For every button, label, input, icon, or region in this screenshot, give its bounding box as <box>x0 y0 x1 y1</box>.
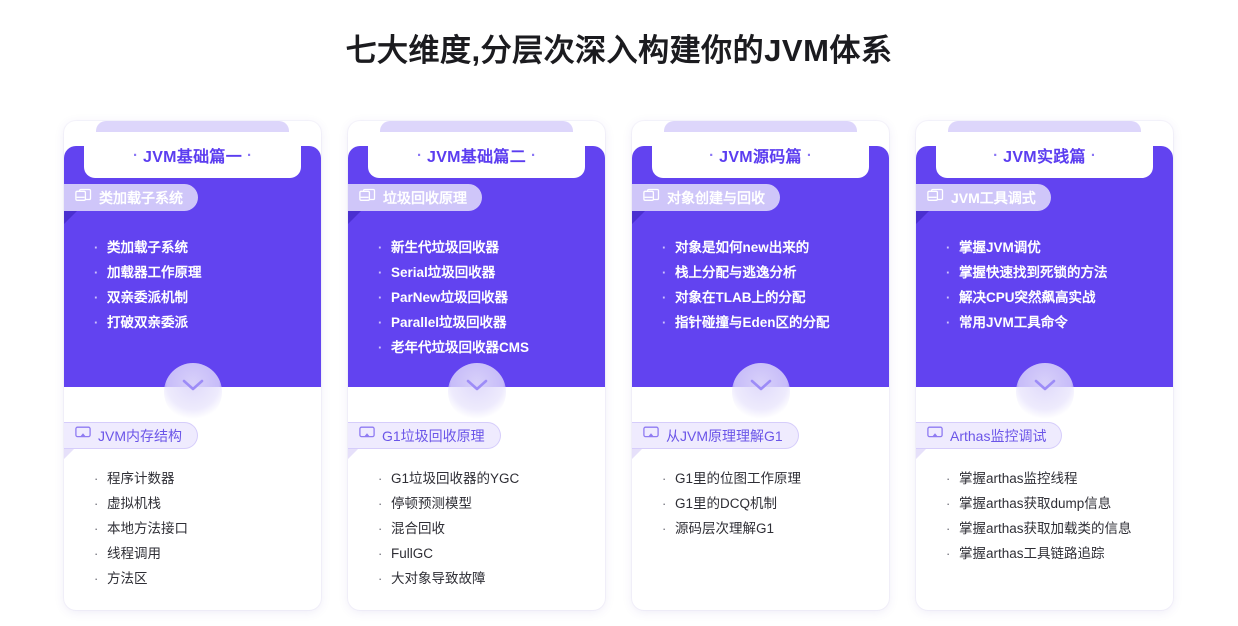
chevron-down-icon[interactable] <box>1034 378 1056 396</box>
lower-badge-fold <box>632 449 642 459</box>
bullet-icon: · <box>94 310 107 335</box>
list-item: ·栈上分配与逃逸分析 <box>662 260 887 285</box>
list-item: ·加载器工作原理 <box>94 260 319 285</box>
monitor-icon <box>75 426 91 445</box>
header-left-dot: · <box>128 147 143 164</box>
list-item: ·G1里的位图工作原理 <box>662 466 887 491</box>
monitor-icon <box>359 426 375 445</box>
list-item-label: 混合回收 <box>391 516 445 541</box>
curriculum-card[interactable]: · JVM源码篇 · 对象创建与回收 ·对象是如何new出来的 ·栈上分配与逃逸… <box>632 121 889 610</box>
monitor-icon <box>643 426 659 445</box>
monitor-icon <box>927 426 943 445</box>
lower-badge-fold <box>348 449 358 459</box>
upper-badge-fold <box>632 211 645 224</box>
lower-item-list: ·G1垃圾回收器的YGC ·停顿预测模型 ·混合回收 ·FullGC ·大对象导… <box>378 466 603 591</box>
bullet-icon: · <box>378 260 391 285</box>
list-item-label: 掌握arthas获取dump信息 <box>959 491 1111 516</box>
card-header-label: JVM基础篇一 <box>143 143 242 167</box>
list-item-label: 停顿预测模型 <box>391 491 472 516</box>
list-item-label: G1里的位图工作原理 <box>675 466 801 491</box>
bullet-icon: · <box>946 541 959 566</box>
curriculum-card[interactable]: · JVM基础篇一 · 类加载子系统 ·类加载子系统 ·加载器工作原理 <box>64 121 321 610</box>
list-item-label: 本地方法接口 <box>107 516 188 541</box>
list-item: ·指针碰撞与Eden区的分配 <box>662 310 887 335</box>
list-item: ·类加载子系统 <box>94 235 319 260</box>
list-item: ·ParNew垃圾回收器 <box>378 285 603 310</box>
bullet-icon: · <box>94 541 107 566</box>
list-item-label: 源码层次理解G1 <box>675 516 774 541</box>
lower-badge-fold <box>916 449 926 459</box>
list-item: ·打破双亲委派 <box>94 310 319 335</box>
list-item-label: Parallel垃圾回收器 <box>391 310 507 335</box>
bullet-icon: · <box>94 516 107 541</box>
bullet-icon: · <box>378 285 391 310</box>
list-item-label: 程序计数器 <box>107 466 175 491</box>
list-item: ·停顿预测模型 <box>378 491 603 516</box>
list-item: ·常用JVM工具命令 <box>946 310 1171 335</box>
bullet-icon: · <box>946 310 959 335</box>
card-grid: · JVM基础篇一 · 类加载子系统 ·类加载子系统 ·加载器工作原理 <box>64 121 1176 610</box>
upper-section-badge: 垃圾回收原理 <box>348 184 482 211</box>
list-item: ·FullGC <box>378 541 603 566</box>
chevron-down-icon[interactable] <box>182 378 204 396</box>
list-item-label: 栈上分配与逃逸分析 <box>675 260 797 285</box>
upper-item-list: ·掌握JVM调优 ·掌握快速找到死锁的方法 ·解决CPU突然飙高实战 ·常用JV… <box>946 235 1171 335</box>
list-item: ·Parallel垃圾回收器 <box>378 310 603 335</box>
header-left-dot: · <box>704 147 719 164</box>
list-item: ·G1里的DCQ机制 <box>662 491 887 516</box>
upper-section-badge: 对象创建与回收 <box>632 184 780 211</box>
upper-badge-label: JVM工具调式 <box>951 188 1036 208</box>
stacked-window-icon <box>927 188 944 208</box>
list-item: ·程序计数器 <box>94 466 319 491</box>
lower-item-list: ·程序计数器 ·虚拟机栈 ·本地方法接口 ·线程调用 ·方法区 <box>94 466 319 591</box>
bullet-icon: · <box>94 566 107 591</box>
bullet-icon: · <box>662 516 675 541</box>
list-item: ·老年代垃圾回收器CMS <box>378 335 603 360</box>
bullet-icon: · <box>378 516 391 541</box>
lower-section-badge: 从JVM原理理解G1 <box>632 422 799 449</box>
bullet-icon: · <box>662 260 675 285</box>
upper-badge-label: 对象创建与回收 <box>667 188 765 208</box>
header-right-dot: · <box>1086 147 1101 164</box>
lower-badge-fold <box>64 449 74 459</box>
bullet-icon: · <box>946 491 959 516</box>
list-item: ·线程调用 <box>94 541 319 566</box>
card-header-label: JVM实践篇 <box>1003 143 1086 167</box>
stacked-window-icon <box>643 188 660 208</box>
lower-section-badge: G1垃圾回收原理 <box>348 422 501 449</box>
bullet-icon: · <box>662 285 675 310</box>
upper-item-list: ·新生代垃圾回收器 ·Serial垃圾回收器 ·ParNew垃圾回收器 ·Par… <box>378 235 603 360</box>
header-right-dot: · <box>526 147 541 164</box>
bullet-icon: · <box>94 285 107 310</box>
upper-badge-label: 类加载子系统 <box>99 188 183 208</box>
lower-badge-label: G1垃圾回收原理 <box>382 426 485 446</box>
list-item-label: FullGC <box>391 541 433 566</box>
list-item: ·双亲委派机制 <box>94 285 319 310</box>
bullet-icon: · <box>378 310 391 335</box>
header-right-dot: · <box>242 147 257 164</box>
list-item: ·掌握arthas工具链路追踪 <box>946 541 1171 566</box>
page-title: 七大维度,分层次深入构建你的JVM体系 <box>0 30 1238 72</box>
stacked-window-icon <box>359 188 376 208</box>
card-header: · JVM基础篇二 · <box>368 132 585 178</box>
list-item: ·掌握arthas监控线程 <box>946 466 1171 491</box>
lower-badge-label: JVM内存结构 <box>98 426 182 446</box>
list-item-label: 双亲委派机制 <box>107 285 188 310</box>
bullet-icon: · <box>662 466 675 491</box>
card-header: · JVM实践篇 · <box>936 132 1153 178</box>
lower-badge-label: Arthas监控调试 <box>950 426 1046 446</box>
lower-section-badge: Arthas监控调试 <box>916 422 1062 449</box>
bullet-icon: · <box>378 235 391 260</box>
list-item: ·源码层次理解G1 <box>662 516 887 541</box>
bullet-icon: · <box>94 491 107 516</box>
upper-badge-fold <box>64 211 77 224</box>
lower-item-list: ·G1里的位图工作原理 ·G1里的DCQ机制 ·源码层次理解G1 <box>662 466 887 541</box>
header-right-dot: · <box>802 147 817 164</box>
list-item: ·对象是如何new出来的 <box>662 235 887 260</box>
chevron-down-icon[interactable] <box>466 378 488 396</box>
bullet-icon: · <box>946 285 959 310</box>
list-item: ·对象在TLAB上的分配 <box>662 285 887 310</box>
list-item-label: 掌握arthas获取加载类的信息 <box>959 516 1132 541</box>
list-item-label: 解决CPU突然飙高实战 <box>959 285 1096 310</box>
list-item-label: 对象在TLAB上的分配 <box>675 285 806 310</box>
list-item-label: 打破双亲委派 <box>107 310 188 335</box>
list-item-label: 大对象导致故障 <box>391 566 486 591</box>
list-item: ·G1垃圾回收器的YGC <box>378 466 603 491</box>
list-item-label: 常用JVM工具命令 <box>959 310 1068 335</box>
list-item-label: 老年代垃圾回收器CMS <box>391 335 529 360</box>
bullet-icon: · <box>662 310 675 335</box>
list-item-label: Serial垃圾回收器 <box>391 260 495 285</box>
lower-section-badge: JVM内存结构 <box>64 422 198 449</box>
list-item: ·虚拟机栈 <box>94 491 319 516</box>
upper-badge-fold <box>916 211 929 224</box>
list-item-label: 新生代垃圾回收器 <box>391 235 499 260</box>
lower-item-list: ·掌握arthas监控线程 ·掌握arthas获取dump信息 ·掌握artha… <box>946 466 1171 566</box>
list-item-label: 线程调用 <box>107 541 161 566</box>
list-item-label: 虚拟机栈 <box>107 491 161 516</box>
bullet-icon: · <box>946 235 959 260</box>
header-left-dot: · <box>988 147 1003 164</box>
list-item: ·新生代垃圾回收器 <box>378 235 603 260</box>
card-header: · JVM基础篇一 · <box>84 132 301 178</box>
list-item: ·掌握JVM调优 <box>946 235 1171 260</box>
upper-item-list: ·对象是如何new出来的 ·栈上分配与逃逸分析 ·对象在TLAB上的分配 ·指针… <box>662 235 887 335</box>
list-item-label: 掌握快速找到死锁的方法 <box>959 260 1108 285</box>
list-item: ·Serial垃圾回收器 <box>378 260 603 285</box>
bullet-icon: · <box>378 335 391 360</box>
upper-item-list: ·类加载子系统 ·加载器工作原理 ·双亲委派机制 ·打破双亲委派 <box>94 235 319 335</box>
bullet-icon: · <box>378 466 391 491</box>
stacked-window-icon <box>75 188 92 208</box>
header-left-dot: · <box>412 147 427 164</box>
bullet-icon: · <box>946 516 959 541</box>
list-item-label: 掌握arthas监控线程 <box>959 466 1078 491</box>
list-item: ·掌握arthas获取dump信息 <box>946 491 1171 516</box>
list-item-label: ParNew垃圾回收器 <box>391 285 508 310</box>
curriculum-card[interactable]: · JVM实践篇 · JVM工具调式 ·掌握JVM调优 ·掌握快速找到死锁的方法 <box>916 121 1173 610</box>
upper-badge-label: 垃圾回收原理 <box>383 188 467 208</box>
list-item-label: 掌握JVM调优 <box>959 235 1041 260</box>
card-header: · JVM源码篇 · <box>652 132 869 178</box>
list-item-label: G1里的DCQ机制 <box>675 491 777 516</box>
upper-section-badge: JVM工具调式 <box>916 184 1051 211</box>
bullet-icon: · <box>94 260 107 285</box>
list-item-label: 类加载子系统 <box>107 235 188 260</box>
list-item-label: G1垃圾回收器的YGC <box>391 466 519 491</box>
card-header-label: JVM基础篇二 <box>427 143 526 167</box>
bullet-icon: · <box>946 466 959 491</box>
curriculum-card[interactable]: · JVM基础篇二 · 垃圾回收原理 ·新生代垃圾回收器 ·Serial垃圾回收… <box>348 121 605 610</box>
bullet-icon: · <box>378 541 391 566</box>
list-item-label: 加载器工作原理 <box>107 260 202 285</box>
upper-badge-fold <box>348 211 361 224</box>
list-item-label: 掌握arthas工具链路追踪 <box>959 541 1105 566</box>
list-item-label: 方法区 <box>107 566 148 591</box>
list-item: ·大对象导致故障 <box>378 566 603 591</box>
page-root: 七大维度,分层次深入构建你的JVM体系 · JVM基础篇一 · 类加载子 <box>0 0 1238 626</box>
list-item: ·本地方法接口 <box>94 516 319 541</box>
bullet-icon: · <box>378 491 391 516</box>
card-header-label: JVM源码篇 <box>719 143 802 167</box>
lower-badge-label: 从JVM原理理解G1 <box>666 426 783 446</box>
chevron-down-icon[interactable] <box>750 378 772 396</box>
bullet-icon: · <box>94 235 107 260</box>
list-item-label: 对象是如何new出来的 <box>675 235 809 260</box>
upper-section-badge: 类加载子系统 <box>64 184 198 211</box>
list-item: ·解决CPU突然飙高实战 <box>946 285 1171 310</box>
list-item: ·掌握快速找到死锁的方法 <box>946 260 1171 285</box>
list-item-label: 指针碰撞与Eden区的分配 <box>675 310 830 335</box>
list-item: ·掌握arthas获取加载类的信息 <box>946 516 1171 541</box>
list-item: ·混合回收 <box>378 516 603 541</box>
list-item: ·方法区 <box>94 566 319 591</box>
bullet-icon: · <box>94 466 107 491</box>
bullet-icon: · <box>662 235 675 260</box>
bullet-icon: · <box>378 566 391 591</box>
bullet-icon: · <box>662 491 675 516</box>
bullet-icon: · <box>946 260 959 285</box>
